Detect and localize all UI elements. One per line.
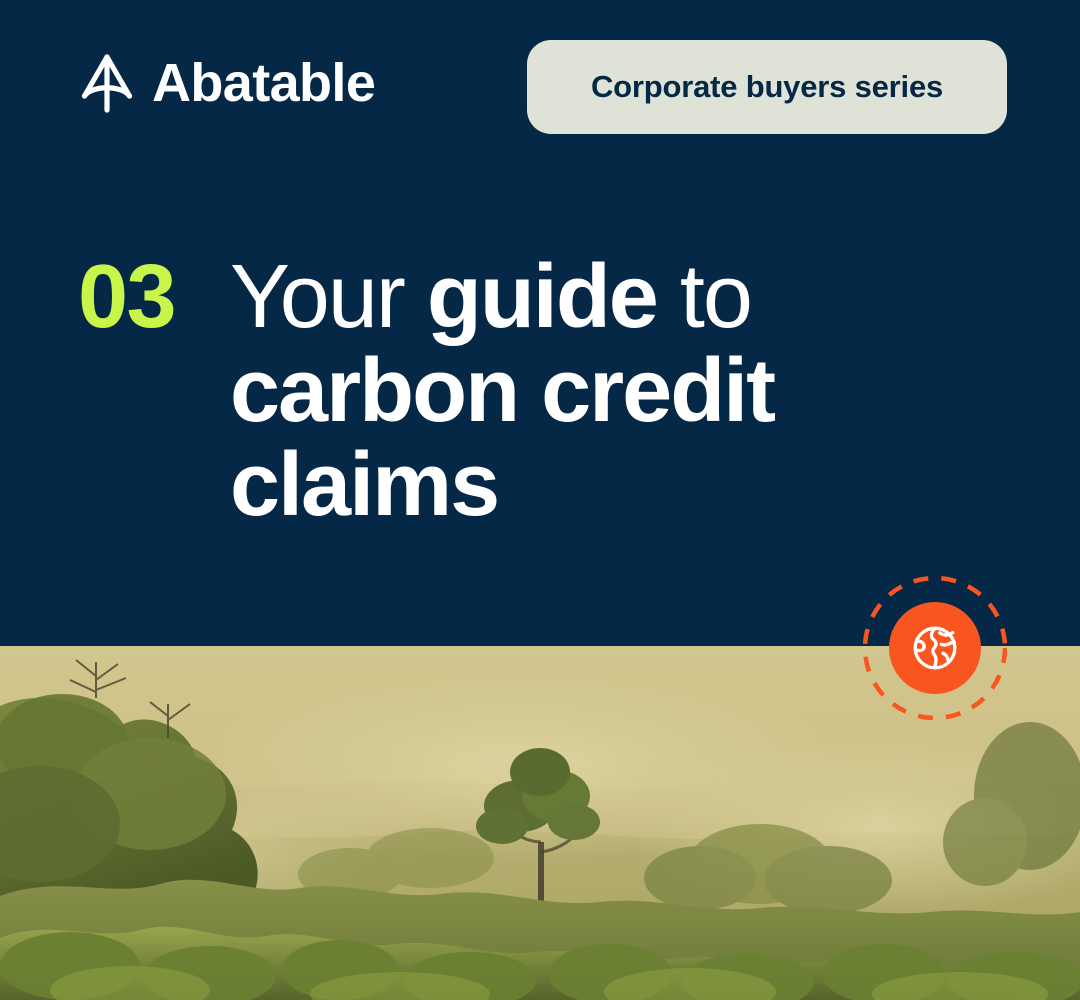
headline-line-1-part-3: to [657, 247, 751, 347]
headline-line-3: claims [230, 438, 978, 532]
headline-text: Your guide to carbon credit claims [230, 250, 978, 532]
headline-line-2: carbon credit [230, 344, 978, 438]
headline-line-1: Your guide to [230, 250, 978, 344]
headline-line-1-part-1: Your [230, 247, 427, 347]
globe-icon [910, 623, 960, 673]
globe-accent-badge [863, 576, 1007, 720]
globe-disc [889, 602, 981, 694]
brand-lockup[interactable]: Abatable [78, 52, 375, 114]
poster-canvas: Abatable Corporate buyers series 03 Your… [0, 0, 1080, 1000]
headline-block: 03 Your guide to carbon credit claims [78, 250, 978, 532]
headline-line-1-part-2: guide [427, 247, 657, 347]
series-badge[interactable]: Corporate buyers series [527, 40, 1007, 134]
brand-name: Abatable [152, 56, 375, 110]
abatable-arrow-mark-icon [78, 52, 136, 114]
headline-number: 03 [78, 250, 230, 344]
series-badge-label: Corporate buyers series [591, 69, 943, 105]
